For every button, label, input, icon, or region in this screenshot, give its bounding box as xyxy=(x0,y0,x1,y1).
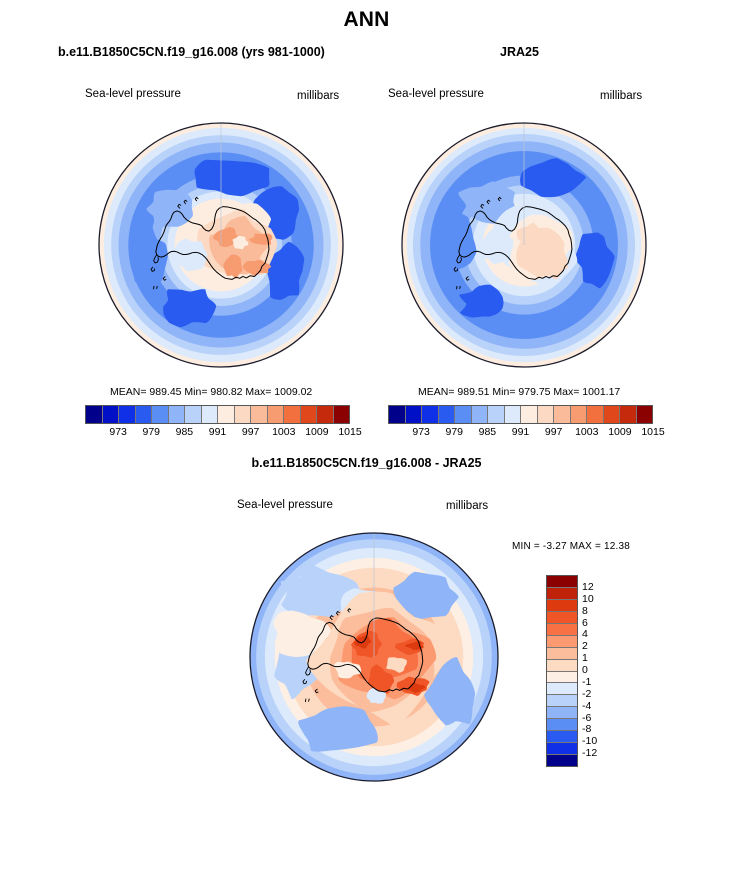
variable-label-top-right: Sea-level pressure xyxy=(388,88,484,100)
colorbar-segment xyxy=(547,576,577,587)
colorbar-segment xyxy=(438,406,455,423)
colorbar-segment xyxy=(86,406,102,423)
colorbar-segment xyxy=(553,406,570,423)
colorbar-segment xyxy=(547,587,577,599)
variable-label-top-left: Sea-level pressure xyxy=(85,88,181,100)
panel-title-difference: b.e11.B1850C5CN.f19_g16.008 - JRA25 xyxy=(0,456,733,470)
colorbar-segment xyxy=(151,406,168,423)
colorbar-segment xyxy=(547,682,577,694)
colorbar-tick-label: 1003 xyxy=(272,426,295,438)
colorbar-tick-label: 0 xyxy=(582,664,588,676)
colorbar-segment xyxy=(217,406,234,423)
colorbar-tick-label: 997 xyxy=(545,426,563,438)
colorbar-segment xyxy=(547,611,577,623)
map-canvas xyxy=(98,115,344,375)
colorbar-segment xyxy=(454,406,471,423)
map-canvas xyxy=(401,115,647,375)
colorbar-tick-label: 2 xyxy=(582,640,588,652)
map-difference[interactable] xyxy=(249,530,499,784)
colorbar-segment xyxy=(547,623,577,635)
colorbar-segment xyxy=(603,406,620,423)
colorbar-segment xyxy=(102,406,119,423)
colorbar-tick-label: -12 xyxy=(582,747,597,759)
colorbar-segment xyxy=(520,406,537,423)
colorbar-tick-label: 1015 xyxy=(641,426,664,438)
colorbar-segment xyxy=(300,406,317,423)
colorbar-segment xyxy=(504,406,521,423)
map-canvas xyxy=(249,530,499,784)
page-title: ANN xyxy=(0,8,733,32)
colorbar-tick-label: 10 xyxy=(582,593,594,605)
colorbar-top-right[interactable] xyxy=(388,405,653,424)
colorbar-difference[interactable] xyxy=(546,575,578,767)
colorbar-segment xyxy=(537,406,554,423)
map-top-right[interactable] xyxy=(401,115,647,375)
colorbar-segment xyxy=(487,406,504,423)
colorbar-segment xyxy=(547,742,577,754)
colorbar-tick-label: 991 xyxy=(209,426,227,438)
colorbar-tick-label: -1 xyxy=(582,676,591,688)
colorbar-segment xyxy=(547,706,577,718)
colorbar-segment xyxy=(201,406,218,423)
colorbar-tick-label: 1 xyxy=(582,652,588,664)
stats-top-right: MEAN= 989.51 Min= 979.75 Max= 1001.17 xyxy=(418,386,620,398)
colorbar-segment xyxy=(168,406,185,423)
panel-title-model: b.e11.B1850C5CN.f19_g16.008 (yrs 981-100… xyxy=(58,45,325,59)
variable-label-difference: Sea-level pressure xyxy=(237,499,333,511)
colorbar-top-left[interactable] xyxy=(85,405,350,424)
colorbar-segment xyxy=(250,406,267,423)
colorbar-segment xyxy=(547,694,577,706)
stats-difference: MIN = -3.27 MAX = 12.38 xyxy=(512,541,630,552)
colorbar-segment xyxy=(547,599,577,611)
colorbar-tick-label: 973 xyxy=(109,426,127,438)
colorbar-tick-label: 1015 xyxy=(338,426,361,438)
colorbar-segment xyxy=(421,406,438,423)
colorbar-tick-label: 8 xyxy=(582,605,588,617)
unit-label-top-left: millibars xyxy=(297,90,339,102)
colorbar-segment xyxy=(547,730,577,742)
colorbar-segment xyxy=(316,406,333,423)
colorbar-tick-label: 6 xyxy=(582,617,588,629)
colorbar-segment xyxy=(547,754,577,766)
colorbar-tick-label: 1009 xyxy=(305,426,328,438)
colorbar-segment xyxy=(586,406,603,423)
colorbar-ticks-top-left: 973979985991997100310091015 xyxy=(85,426,350,440)
colorbar-segment xyxy=(619,406,636,423)
colorbar-segment xyxy=(547,659,577,671)
colorbar-tick-label: 985 xyxy=(176,426,194,438)
colorbar-segment xyxy=(405,406,422,423)
colorbar-tick-label: 1009 xyxy=(608,426,631,438)
colorbar-tick-label: -4 xyxy=(582,700,591,712)
colorbar-segment xyxy=(636,406,653,423)
colorbar-tick-label: -6 xyxy=(582,712,591,724)
colorbar-tick-label: 4 xyxy=(582,628,588,640)
colorbar-tick-label: 1003 xyxy=(575,426,598,438)
colorbar-segment xyxy=(547,718,577,730)
colorbar-tick-label: 997 xyxy=(242,426,260,438)
stats-top-left: MEAN= 989.45 Min= 980.82 Max= 1009.02 xyxy=(110,386,312,398)
colorbar-tick-label: -10 xyxy=(582,735,597,747)
colorbar-segment xyxy=(570,406,587,423)
colorbar-segment xyxy=(184,406,201,423)
colorbar-tick-label: 991 xyxy=(512,426,530,438)
colorbar-segment xyxy=(389,406,405,423)
colorbar-tick-label: -8 xyxy=(582,723,591,735)
colorbar-tick-label: 985 xyxy=(479,426,497,438)
unit-label-difference: millibars xyxy=(446,500,488,512)
colorbar-segment xyxy=(333,406,350,423)
colorbar-segment xyxy=(547,635,577,647)
colorbar-segment xyxy=(135,406,152,423)
colorbar-tick-label: -2 xyxy=(582,688,591,700)
colorbar-tick-label: 12 xyxy=(582,581,594,593)
colorbar-tick-label: 979 xyxy=(142,426,160,438)
colorbar-tick-label: 979 xyxy=(445,426,463,438)
colorbar-segment xyxy=(471,406,488,423)
panel-title-obs: JRA25 xyxy=(500,45,539,59)
unit-label-top-right: millibars xyxy=(600,90,642,102)
colorbar-segment xyxy=(267,406,284,423)
colorbar-segment xyxy=(234,406,251,423)
colorbar-tick-label: 973 xyxy=(412,426,430,438)
map-top-left[interactable] xyxy=(98,115,344,375)
colorbar-segment xyxy=(118,406,135,423)
colorbar-segment xyxy=(283,406,300,423)
colorbar-segment xyxy=(547,647,577,659)
colorbar-segment xyxy=(547,671,577,683)
colorbar-ticks-top-right: 973979985991997100310091015 xyxy=(388,426,653,440)
